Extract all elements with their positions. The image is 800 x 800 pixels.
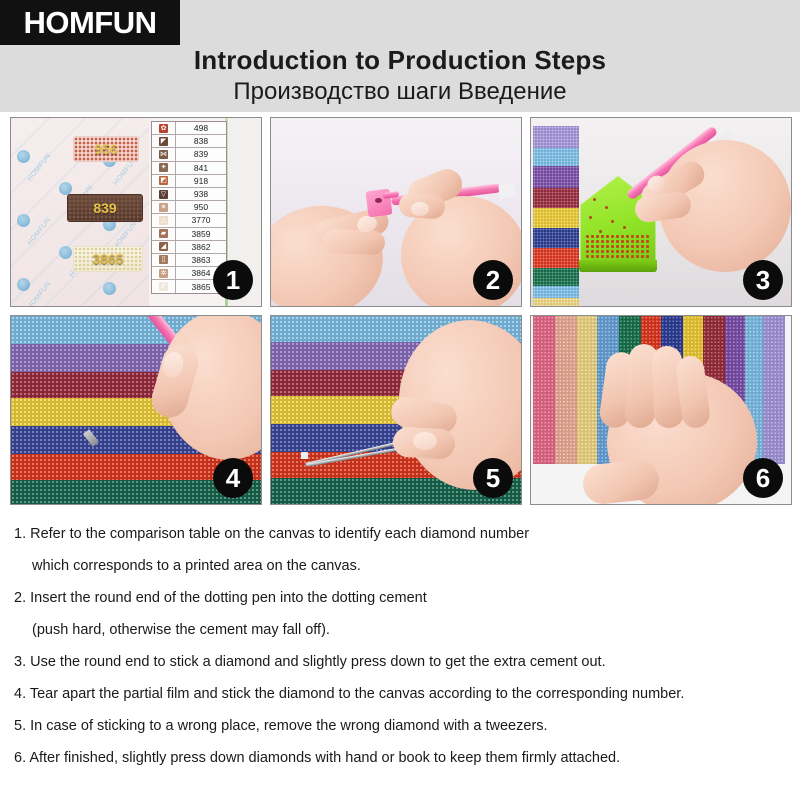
step-badge-5: 5 <box>473 458 513 498</box>
step-badge-1: 1 <box>213 260 253 300</box>
color-chart-number: 498 <box>176 122 226 134</box>
left-thumb <box>323 229 386 255</box>
step-panel-4: 4 <box>10 315 262 505</box>
steps-image-grid: HOMFUN HOMFUN HOMFUN HOMFUN HOMFUN HOMFU… <box>10 117 792 505</box>
pen-cap <box>498 183 516 199</box>
color-chart-symbol: ◩ <box>152 175 176 187</box>
color-chart-symbol: ▯ <box>152 254 176 266</box>
packet-label-2: 839 <box>68 200 142 216</box>
color-chart-number: 3863 <box>176 254 226 266</box>
page-header: HOMFUN Introduction to Production Steps … <box>0 0 800 112</box>
color-chart-row: ✶950 <box>152 201 226 214</box>
step-panel-3: 3 <box>530 117 792 307</box>
removed-diamond <box>301 452 308 459</box>
color-chart-row: ▯3863 <box>152 254 226 267</box>
instruction-line: which corresponds to a printed area on t… <box>14 550 786 582</box>
step-badge-3: 3 <box>743 260 783 300</box>
color-chart-number: 838 <box>176 135 226 147</box>
diamond-packet-3: 3865 <box>73 246 143 272</box>
fingernail-panel5 <box>413 432 437 450</box>
step-panel-5: 5 <box>270 315 522 505</box>
color-chart-row: ◢3862 <box>152 241 226 254</box>
packet-label-1: 956 <box>74 141 138 157</box>
brand-logo: HOMFUN <box>0 0 180 45</box>
color-chart-row: ▽938 <box>152 188 226 201</box>
cement-hole <box>375 198 382 203</box>
instruction-line: 6. After finished, slightly press down d… <box>14 742 786 774</box>
step-panel-6: 6 <box>530 315 792 505</box>
color-chart-row: ▰3859 <box>152 228 226 241</box>
color-chart-row: ✿498 <box>152 122 226 135</box>
color-chart-row: △3770 <box>152 214 226 227</box>
page-title-english: Introduction to Production Steps <box>0 44 800 76</box>
instructions-list: 1. Refer to the comparison table on the … <box>0 512 800 800</box>
color-chart-row: ⋈839 <box>152 148 226 161</box>
page-title-russian: Производство шаги Введение <box>0 77 800 107</box>
color-chart-symbol: ✿ <box>152 122 176 134</box>
step-badge-6: 6 <box>743 458 783 498</box>
right-fingernail <box>411 202 429 216</box>
color-chart-symbol: ∕∕ <box>152 280 176 293</box>
color-chart-symbol: ◤ <box>152 135 176 147</box>
color-chart-row: ◤838 <box>152 135 226 148</box>
color-chart-number: 3770 <box>176 214 226 226</box>
packet-label-3: 3865 <box>74 251 142 267</box>
color-chart-symbol: ◢ <box>152 241 176 253</box>
diamond-packet-1: 956 <box>73 136 139 162</box>
color-chart-number: 950 <box>176 201 226 213</box>
color-chart-number: 839 <box>176 148 226 160</box>
color-chart-symbol: ✶ <box>152 201 176 213</box>
canvas-strip-panel3 <box>533 126 579 307</box>
color-chart-symbol: △ <box>152 214 176 226</box>
color-chart-symbol: ✲ <box>152 267 176 279</box>
color-chart-symbol: ▰ <box>152 228 176 240</box>
color-chart-row: ◩918 <box>152 175 226 188</box>
tray-diamond-pile <box>585 234 649 258</box>
color-chart-symbol: ✦ <box>152 162 176 174</box>
color-chart-number: 3859 <box>176 228 226 240</box>
title-block: Introduction to Production Steps Произво… <box>0 44 800 107</box>
diamond-packet-2: 839 <box>67 194 143 222</box>
color-chart-symbol: ⋈ <box>152 148 176 160</box>
instruction-line: 4. Tear apart the partial film and stick… <box>14 678 786 710</box>
instruction-line: 2. Insert the round end of the dotting p… <box>14 582 786 614</box>
step-panel-1: HOMFUN HOMFUN HOMFUN HOMFUN HOMFUN HOMFU… <box>10 117 262 307</box>
instruction-line: 3. Use the round end to stick a diamond … <box>14 646 786 678</box>
instruction-line: (push hard, otherwise the cement may fal… <box>14 614 786 646</box>
color-chart-number: 918 <box>176 175 226 187</box>
step-badge-2: 2 <box>473 260 513 300</box>
instruction-line: 1. Refer to the comparison table on the … <box>14 518 786 550</box>
color-chart-number: 3862 <box>176 241 226 253</box>
instruction-line: 5. In case of sticking to a wrong place,… <box>14 710 786 742</box>
color-chart-symbol: ▽ <box>152 188 176 200</box>
step-panel-2: 2 <box>270 117 522 307</box>
brand-logo-text: HOMFUN <box>23 5 156 41</box>
color-chart-row: ✦841 <box>152 162 226 175</box>
step-badge-4: 4 <box>213 458 253 498</box>
color-chart-number: 841 <box>176 162 226 174</box>
page-root: HOMFUN Introduction to Production Steps … <box>0 0 800 800</box>
color-chart-number: 938 <box>176 188 226 200</box>
